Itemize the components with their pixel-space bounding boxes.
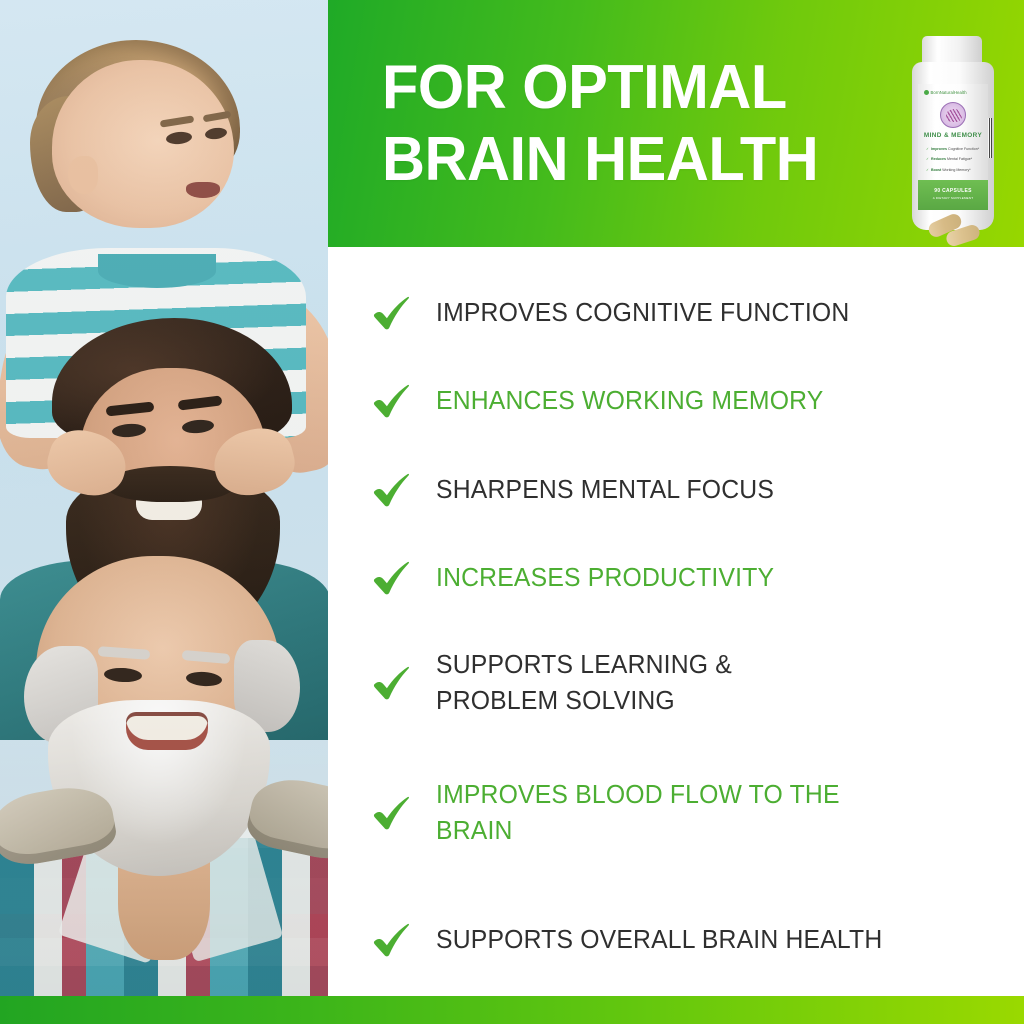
benefit-item: SUPPORTS OVERALL BRAIN HEALTH — [372, 922, 1012, 958]
benefit-label: SUPPORTS OVERALL BRAIN HEALTH — [436, 922, 882, 958]
benefit-item: INCREASES PRODUCTIVITY — [372, 560, 1012, 596]
child-mouth — [186, 182, 220, 198]
child-head — [52, 60, 234, 228]
label-claims: ✓ Improves Cognitive Function* ✓ Reduces… — [926, 144, 979, 175]
check-icon — [372, 796, 410, 830]
label-claim-item: ✓ Boost Working Memory* — [926, 165, 979, 175]
bottle-label: BornNaturalHealth MIND & MEMORY ✓ Improv… — [918, 84, 988, 210]
benefit-item: IMPROVES BLOOD FLOW TO THE BRAIN — [372, 777, 1012, 849]
benefit-item: SUPPORTS LEARNING & PROBLEM SOLVING — [372, 647, 1012, 719]
benefit-item: IMPROVES COGNITIVE FUNCTION — [372, 295, 1012, 331]
check-icon — [372, 561, 410, 595]
benefit-item: SHARPENS MENTAL FOCUS — [372, 472, 1012, 508]
capsule-count: 90 CAPSULES — [918, 188, 988, 194]
check-icon — [372, 923, 410, 957]
benefit-label: IMPROVES COGNITIVE FUNCTION — [436, 295, 849, 331]
product-bottle: BornNaturalHealth MIND & MEMORY ✓ Improv… — [900, 32, 1008, 242]
check-icon — [372, 296, 410, 330]
label-footer: 90 CAPSULES A DIETARY SUPPLEMENT — [918, 180, 988, 210]
brand-text: BornNaturalHealth — [931, 90, 967, 95]
family-photo — [0, 0, 328, 996]
headline-line-1: FOR OPTIMAL — [382, 52, 814, 124]
page-title: FOR OPTIMAL BRAIN HEALTH — [382, 52, 814, 196]
label-product-title: MIND & MEMORY — [918, 132, 988, 139]
supplement-note: A DIETARY SUPPLEMENT — [918, 196, 988, 200]
check-icon: ✓ — [926, 168, 929, 172]
headline-banner: FOR OPTIMAL BRAIN HEALTH BornNaturalHeal… — [328, 0, 1024, 247]
check-icon — [372, 666, 410, 700]
benefit-label: SHARPENS MENTAL FOCUS — [436, 472, 774, 508]
benefit-label: ENHANCES WORKING MEMORY — [436, 383, 823, 419]
footer-accent-bar — [0, 996, 1024, 1024]
headline-line-2: BRAIN HEALTH — [382, 124, 814, 196]
brand-name: BornNaturalHealth — [924, 90, 967, 95]
benefit-label: INCREASES PRODUCTIVITY — [436, 560, 774, 596]
child-ear — [68, 156, 98, 194]
benefits-list: IMPROVES COGNITIVE FUNCTIONENHANCES WORK… — [328, 247, 1024, 996]
product-benefits-poster: FOR OPTIMAL BRAIN HEALTH BornNaturalHeal… — [0, 0, 1024, 1024]
check-icon — [372, 473, 410, 507]
brand-logo-icon — [924, 90, 929, 95]
brain-icon — [940, 102, 966, 128]
check-icon — [372, 384, 410, 418]
benefit-label: IMPROVES BLOOD FLOW TO THE BRAIN — [436, 777, 853, 849]
grandfather-mouth — [126, 716, 208, 750]
label-claim-item: ✓ Reduces Mental Fatigue* — [926, 154, 979, 164]
label-claim-item: ✓ Improves Cognitive Function* — [926, 144, 979, 154]
benefit-label: SUPPORTS LEARNING & PROBLEM SOLVING — [436, 647, 853, 719]
check-icon: ✓ — [926, 147, 929, 151]
check-icon: ✓ — [926, 157, 929, 161]
benefit-item: ENHANCES WORKING MEMORY — [372, 383, 1012, 419]
